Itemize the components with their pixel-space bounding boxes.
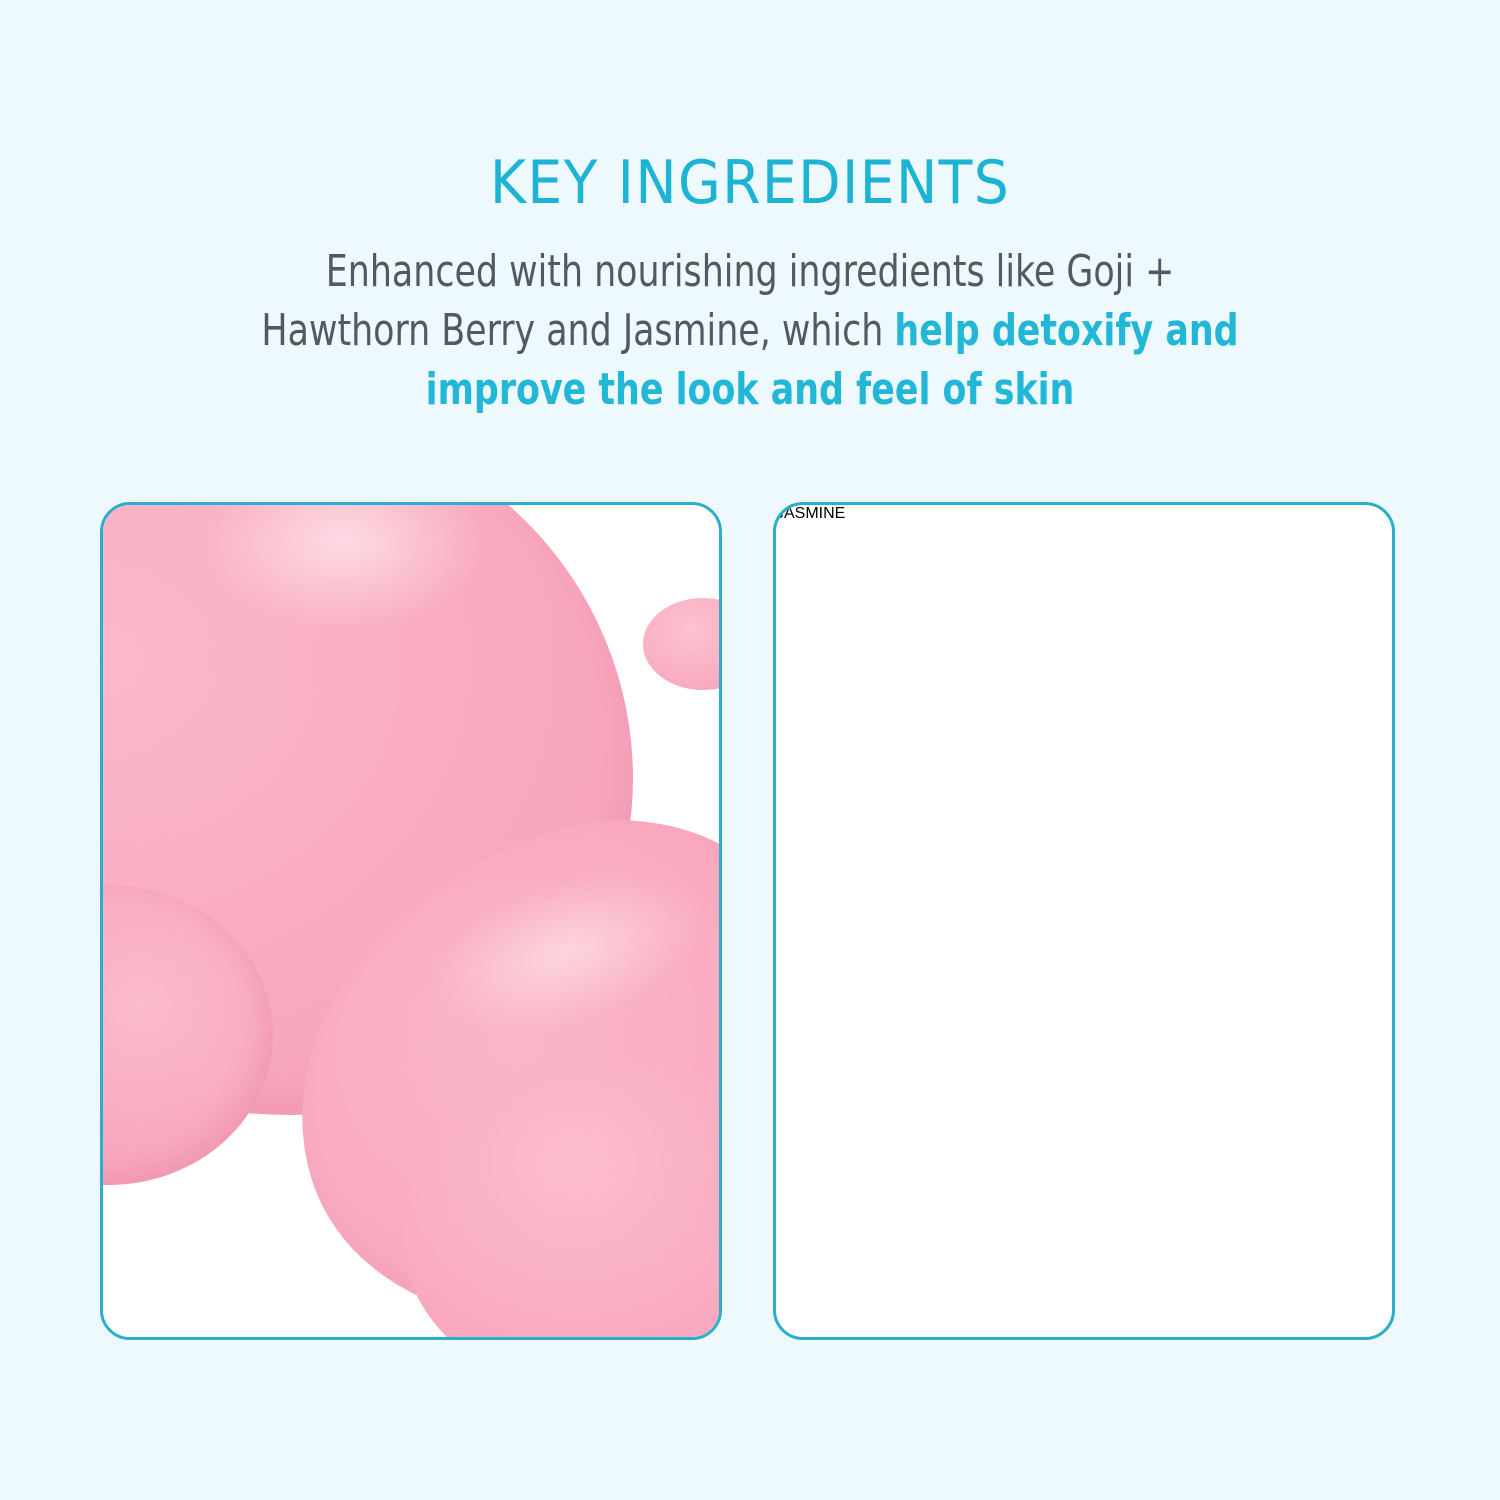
oil-bubble	[776, 621, 798, 643]
pink-droplet-small	[643, 598, 719, 690]
oil-bubble	[776, 1219, 794, 1237]
page-title: KEY INGREDIENTS	[60, 150, 1440, 216]
oil-bubble	[776, 505, 836, 565]
oil-bubble	[776, 1301, 798, 1323]
oil-bubble	[776, 1259, 802, 1285]
pink-droplet-lower-left	[103, 1145, 303, 1337]
page-subtitle: Enhanced with nourishing ingredients lik…	[240, 242, 1261, 419]
oil-bubble	[776, 991, 810, 1025]
oil-bubble	[776, 709, 800, 733]
oil-bubble	[776, 817, 810, 851]
oil-bubble	[776, 1159, 812, 1195]
oil-bubble	[776, 1285, 792, 1301]
heading-block: KEY INGREDIENTS Enhanced with nourishing…	[0, 150, 1500, 419]
oil-bubble	[776, 661, 824, 709]
ingredient-cards-row: GOJI + HAWTHORN BERRY JASMINE	[100, 502, 1395, 1342]
gold-bubble-field	[776, 505, 1392, 1337]
golden-oil-image	[776, 505, 1392, 1337]
oil-bubble	[776, 643, 794, 661]
oil-bubble	[776, 1081, 798, 1103]
oil-bubble	[776, 1323, 794, 1337]
oil-bubble	[776, 1195, 800, 1219]
oil-bubble	[776, 791, 802, 817]
oil-bubble	[776, 1237, 798, 1259]
oil-bubble	[776, 595, 802, 621]
oil-bubble	[776, 915, 812, 951]
key-ingredients-page: KEY INGREDIENTS Enhanced with nourishing…	[0, 0, 1500, 1500]
pink-droplets-image	[103, 505, 719, 1337]
oil-bubble	[776, 1025, 802, 1051]
oil-bubble	[776, 733, 834, 791]
oil-bubble	[776, 565, 806, 595]
ingredient-card-jasmine[interactable]: JASMINE	[773, 502, 1395, 1340]
ingredient-card-goji-hawthorn-berry[interactable]: GOJI + HAWTHORN BERRY	[100, 502, 722, 1340]
oil-bubble	[776, 1103, 810, 1137]
oil-bubble	[776, 1051, 806, 1081]
oil-bubble	[776, 951, 816, 991]
oil-bubble	[776, 1137, 798, 1159]
oil-bubble	[776, 851, 840, 915]
